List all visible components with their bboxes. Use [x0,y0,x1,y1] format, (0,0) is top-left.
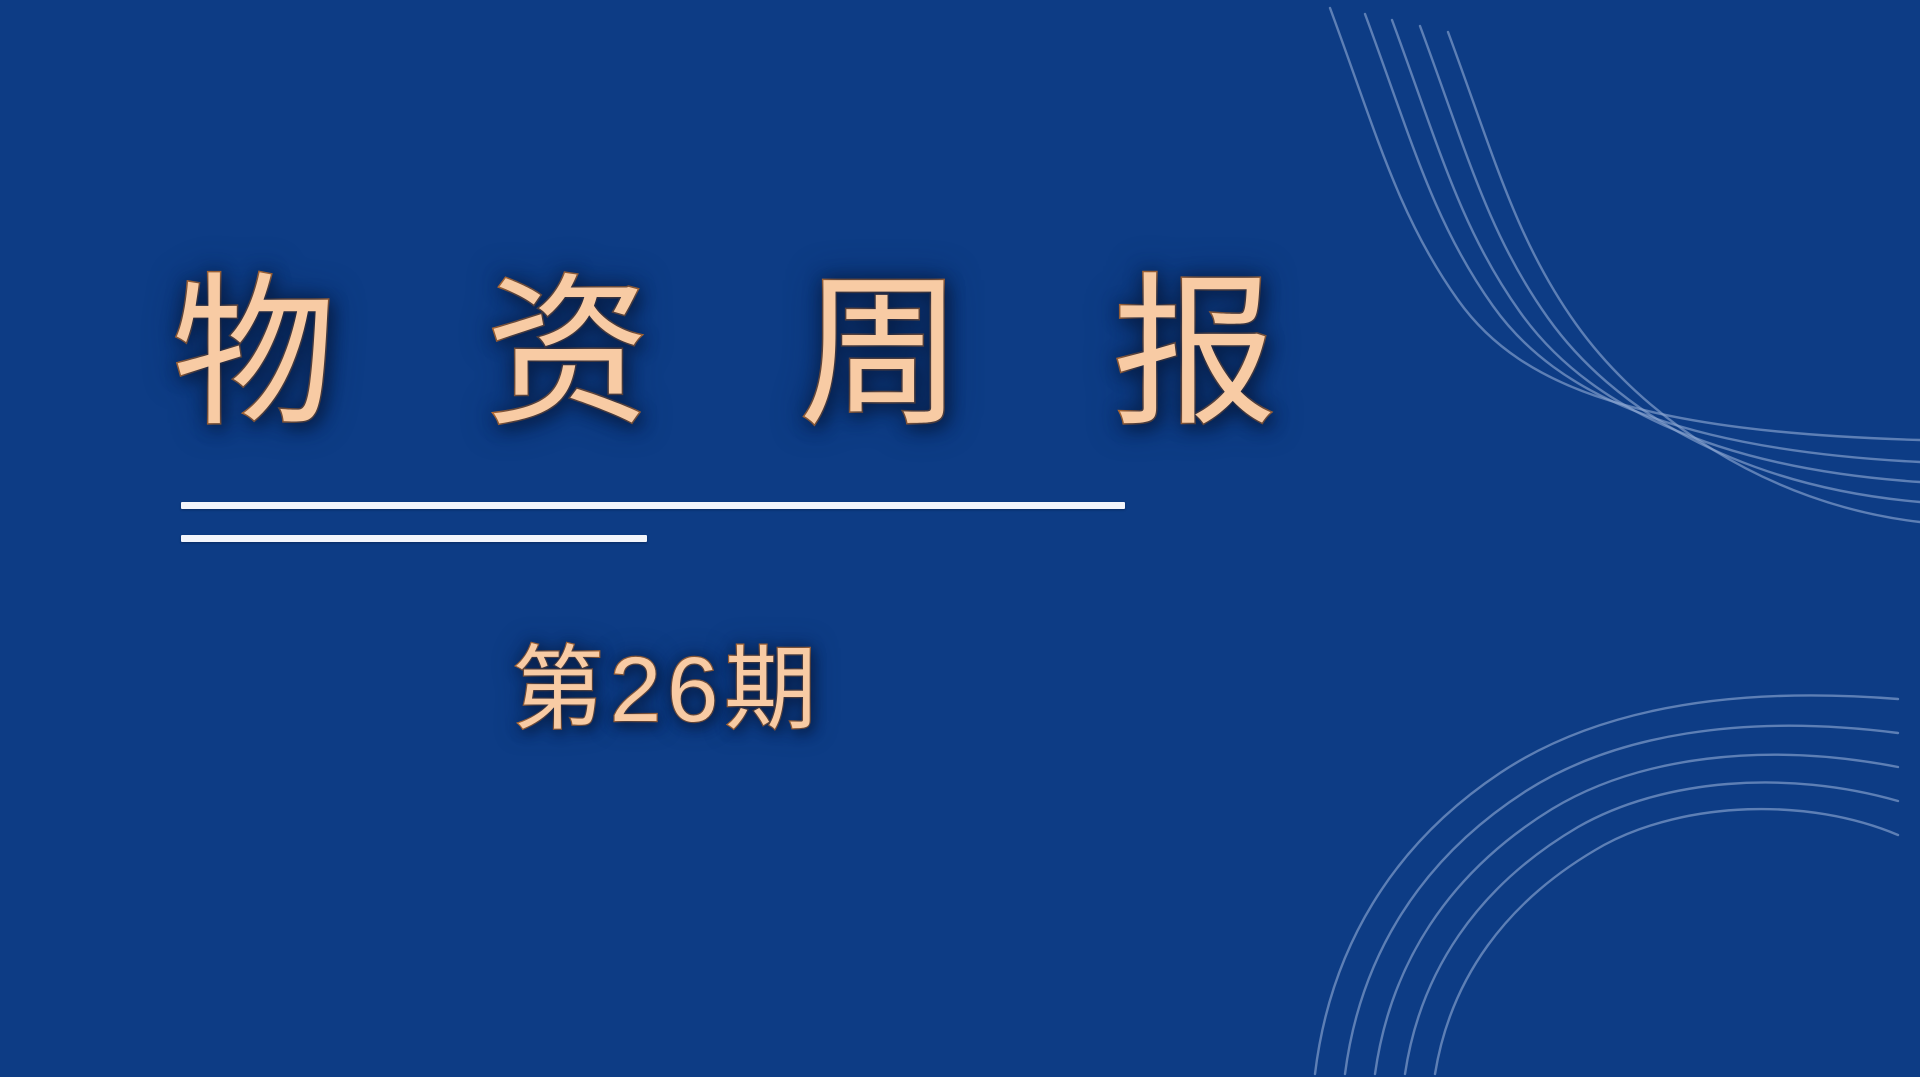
wave-lines-icon [1280,0,1920,560]
issue-subtitle: 第26期 [512,638,822,744]
title-underline-short [181,535,647,542]
title-block: 物 资 周 报 [150,262,1250,446]
cover-slide: 物 资 周 报 第26期 [0,0,1920,1077]
page-title: 物 资 周 报 [150,262,1250,446]
arc-lines-icon [1300,577,1920,1077]
title-underline-long [181,502,1125,509]
